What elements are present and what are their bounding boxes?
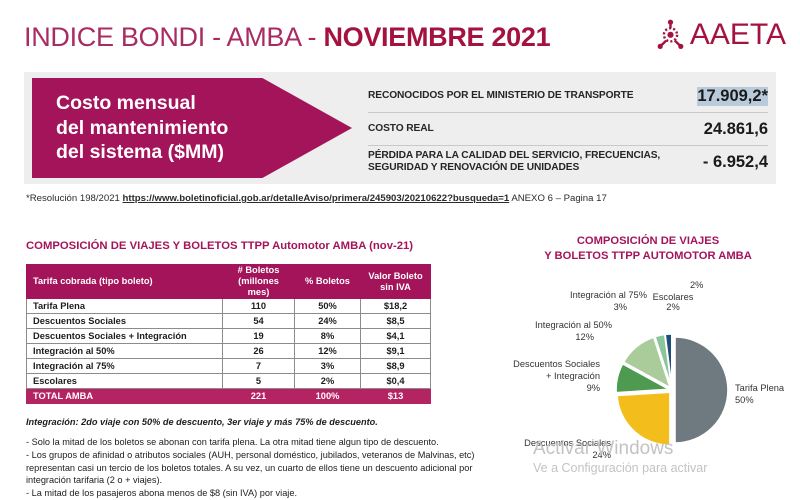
table-section-heading: COMPOSICIÓN DE VIAJES Y BOLETOS TTPP Aut… (26, 240, 413, 252)
pie-label-integracion-50-pct: 12% (575, 332, 594, 342)
cell-pct: 2% (295, 374, 361, 389)
kpi-label: RECONOCIDOS POR EL MINISTERIO DE TRANSPO… (368, 90, 634, 102)
pie-label-descuentos-integracion-pct: 9% (587, 383, 600, 393)
pie-label-descuentos-sociales-pct: 24% (592, 450, 611, 460)
cell-boletos: 26 (223, 344, 295, 359)
cell-tarifa: Descuentos Sociales (27, 314, 223, 329)
pie-label-integracion-50: Integración al 50% (535, 320, 612, 330)
cell-boletos: 19 (223, 329, 295, 344)
cell-tarifa: Integración al 75% (27, 359, 223, 374)
pie-slice-tarifa-plena (675, 337, 728, 443)
pie-label-tarifa-plena-pct: 50% (735, 395, 754, 405)
cell-boletos: 7 (223, 359, 295, 374)
cell-pct: 50% (295, 299, 361, 314)
notes-list: - Solo la mitad de los boletos se abonan… (26, 436, 478, 500)
table-row: Descuentos Sociales 54 24% $8,5 (27, 314, 431, 329)
cell-tarifa: Descuentos Sociales + Integración (27, 329, 223, 344)
cell-tarifa: Integración al 50% (27, 344, 223, 359)
kpi-list: RECONOCIDOS POR EL MINISTERIO DE TRANSPO… (368, 80, 768, 176)
pie-chart-title: COMPOSICIÓN DE VIAJES Y BOLETOS TTPP AUT… (498, 234, 798, 264)
kpi-row-costo-real: COSTO REAL 24.861,6 (368, 113, 768, 146)
cell-valor: $8,5 (361, 314, 431, 329)
table-header-row: Tarifa cobrada (tipo boleto) # Boletos (… (27, 265, 431, 299)
column-header-boletos: # Boletos (millones mes) (223, 265, 295, 299)
table-total-row: TOTAL AMBA 221 100% $13 (27, 389, 431, 404)
aaeta-logo-text: AAETA (690, 20, 786, 50)
cell-boletos: 54 (223, 314, 295, 329)
pie-chart: Tarifa Plena 50% Descuentos Sociales 24%… (490, 280, 800, 498)
kpi-row-reconocidos: RECONOCIDOS POR EL MINISTERIO DE TRANSPO… (368, 80, 768, 113)
pie-label-descuentos-sociales: Descuentos Sociales (524, 438, 611, 448)
cell-total-pct: 100% (295, 389, 361, 404)
cell-pct: 12% (295, 344, 361, 359)
page-title: INDICE BONDI - AMBA - NOVIEMBRE 2021 (24, 22, 550, 53)
kpi-value: - 6.952,4 (703, 153, 768, 172)
tickets-composition-table: Tarifa cobrada (tipo boleto) # Boletos (… (26, 264, 431, 404)
cell-pct: 8% (295, 329, 361, 344)
kpi-value-highlighted: 17.909,2* (697, 87, 768, 106)
cell-boletos: 110 (223, 299, 295, 314)
pie-chart-svg: Tarifa Plena 50% Descuentos Sociales 24%… (490, 280, 800, 498)
cell-tarifa: Escolares (27, 374, 223, 389)
pie-label-descuentos-integracion: Descuentos Sociales (513, 359, 600, 369)
pie-label-escolares-text: Escolares (638, 292, 708, 302)
column-header-pct: % Boletos (295, 265, 361, 299)
aaeta-logo: AAETA (654, 19, 786, 51)
cell-pct: 24% (295, 314, 361, 329)
pie-label-escolares-pct: 2% (690, 280, 703, 290)
column-header-tarifa: Tarifa cobrada (tipo boleto) (27, 265, 223, 299)
cell-valor: $8,9 (361, 359, 431, 374)
footnote-link[interactable]: https://www.boletinoficial.gob.ar/detall… (123, 193, 510, 204)
resolution-footnote: *Resolución 198/2021 https://www.boletin… (26, 193, 607, 204)
kpi-row-perdida: PÉRDIDA PARA LA CALIDAD DEL SERVICIO, FR… (368, 146, 768, 178)
roundabout-icon (654, 19, 688, 51)
table-row: Integración al 50% 26 12% $9,1 (27, 344, 431, 359)
cell-pct: 3% (295, 359, 361, 374)
cell-valor: $4,1 (361, 329, 431, 344)
page-header: INDICE BONDI - AMBA - NOVIEMBRE 2021 AAE… (0, 0, 800, 66)
cell-tarifa: Tarifa Plena (27, 299, 223, 314)
table-row: Tarifa Plena 110 50% $18,2 (27, 299, 431, 314)
cell-valor: $0,4 (361, 374, 431, 389)
pie-label-escolares-pct-text: 2% (638, 302, 708, 312)
page-title-prefix: INDICE BONDI - AMBA - (24, 22, 323, 52)
kpi-label: COSTO REAL (368, 123, 434, 135)
table-row: Integración al 75% 7 3% $8,9 (27, 359, 431, 374)
cell-total-valor: $13 (361, 389, 431, 404)
footnote-prefix: *Resolución 198/2021 (26, 193, 123, 204)
kpi-value: 24.861,6 (704, 120, 768, 139)
pie-label-integracion-75: Integración al 75% (570, 290, 647, 300)
note-item: - Solo la mitad de los boletos se abonan… (26, 436, 478, 449)
cell-total-boletos: 221 (223, 389, 295, 404)
table-row: Escolares 5 2% $0,4 (27, 374, 431, 389)
pie-label-descuentos-integracion-2: + Integración (546, 371, 600, 381)
cell-boletos: 5 (223, 374, 295, 389)
pie-label-integracion-75-pct: 3% (614, 302, 627, 312)
pie-label-tarifa-plena: Tarifa Plena (735, 383, 785, 393)
column-header-valor: Valor Boleto sin IVA (361, 265, 431, 299)
kpi-label: PÉRDIDA PARA LA CALIDAD DEL SERVICIO, FR… (368, 150, 660, 175)
cell-valor: $18,2 (361, 299, 431, 314)
banner-arrow-shape: Costo mensual del mantenimiento del sist… (32, 78, 352, 178)
pie-slice-descuentos-sociales (617, 392, 670, 445)
cell-valor: $9,1 (361, 344, 431, 359)
footnote-suffix: ANEXO 6 – Pagina 17 (509, 193, 607, 204)
cost-summary-banner: Costo mensual del mantenimiento del sist… (24, 72, 776, 184)
pie-slices (616, 334, 728, 445)
table-row: Descuentos Sociales + Integración 19 8% … (27, 329, 431, 344)
cell-total-label: TOTAL AMBA (27, 389, 223, 404)
note-item: - Los grupos de afinidad o atributos soc… (26, 449, 478, 487)
page-title-month: NOVIEMBRE 2021 (323, 22, 550, 52)
banner-arrow-label: Costo mensual del mantenimiento del sist… (32, 91, 228, 165)
integration-note: Integración: 2do viaje con 50% de descue… (26, 417, 378, 427)
pie-label-escolares-block: Escolares 2% (638, 292, 708, 312)
